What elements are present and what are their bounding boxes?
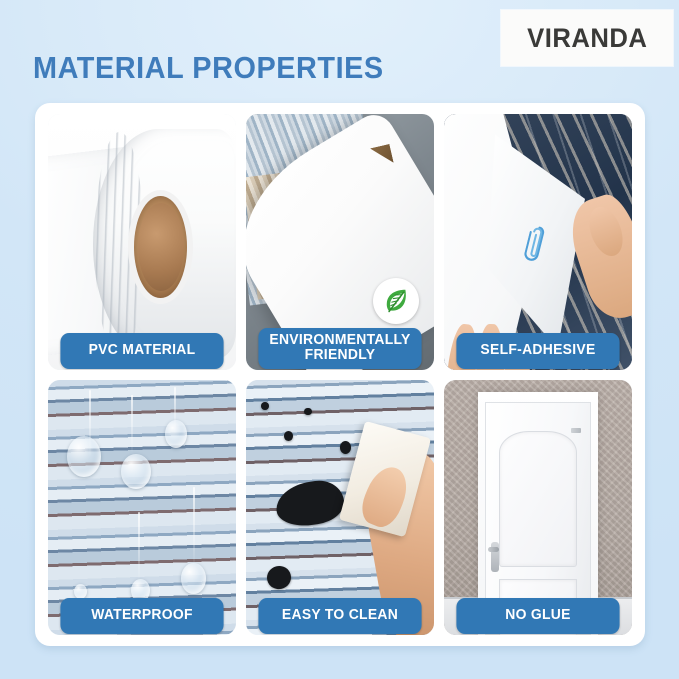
- features-card: PVC MATERIAL: [35, 103, 645, 646]
- leaf-icon: [373, 278, 419, 324]
- self-adhesive-illustration: [444, 114, 632, 370]
- pvc-cardboard-core: [134, 196, 187, 298]
- door-illustration: [444, 380, 632, 636]
- water-droplet: [121, 454, 151, 490]
- waterproof-image: [48, 380, 236, 636]
- feature-tile-no-glue[interactable]: NO GLUE: [444, 380, 632, 636]
- features-grid: PVC MATERIAL: [48, 114, 632, 635]
- stain-spot: [261, 402, 269, 410]
- stain-main: [273, 477, 346, 529]
- feature-label-self-adhesive: SELF-ADHESIVE: [456, 333, 619, 369]
- feature-tile-waterproof[interactable]: WATERPROOF: [48, 380, 236, 636]
- pvc-material-image: [48, 114, 236, 370]
- infographic-page: VIRANDA MATERIAL PROPERTIES PVC MATE: [0, 0, 679, 679]
- water-droplet: [74, 584, 87, 599]
- eco-roll-tip: [370, 144, 394, 167]
- stain-spot: [284, 431, 293, 441]
- easy-to-clean-illustration: [246, 380, 434, 636]
- feature-tile-environmentally-friendly[interactable]: ENVIRONMENTALLY FRIENDLY: [246, 114, 434, 370]
- self-adhesive-image: [444, 114, 632, 370]
- water-droplet: [67, 436, 101, 477]
- brand-name: VIRANDA: [527, 23, 647, 54]
- water-trail: [138, 512, 140, 578]
- feature-label-waterproof: WATERPROOF: [60, 598, 223, 634]
- feature-label-environmentally-friendly: ENVIRONMENTALLY FRIENDLY: [258, 328, 421, 369]
- stain-spot: [304, 408, 312, 416]
- feature-label-no-glue: NO GLUE: [456, 598, 619, 634]
- water-trail: [131, 395, 133, 451]
- stain-spot: [264, 563, 293, 591]
- door-hinge: [571, 428, 580, 433]
- feature-tile-self-adhesive[interactable]: SELF-ADHESIVE: [444, 114, 632, 370]
- water-droplet: [181, 563, 205, 594]
- no-glue-image: [444, 380, 632, 636]
- easy-to-clean-image: [246, 380, 434, 636]
- pvc-core-inner: [138, 203, 184, 291]
- water-droplet: [165, 420, 188, 448]
- feature-label-line-1: ENVIRONMENTALLY: [269, 332, 410, 348]
- door-handle: [491, 542, 498, 572]
- pvc-roll-illustration: [48, 114, 236, 370]
- page-title: MATERIAL PROPERTIES: [33, 50, 384, 86]
- stain-spot: [340, 441, 351, 454]
- brand-logo: VIRANDA: [501, 10, 673, 66]
- feature-label-easy-to-clean: EASY TO CLEAN: [258, 598, 421, 634]
- feature-tile-easy-to-clean[interactable]: EASY TO CLEAN: [246, 380, 434, 636]
- waterproof-illustration: [48, 380, 236, 636]
- door-panel-top: [499, 431, 578, 567]
- feature-label-pvc-material: PVC MATERIAL: [60, 333, 223, 369]
- feature-tile-pvc-material[interactable]: PVC MATERIAL: [48, 114, 236, 370]
- feature-label-line-2: FRIENDLY: [305, 347, 376, 363]
- water-trail: [193, 487, 195, 564]
